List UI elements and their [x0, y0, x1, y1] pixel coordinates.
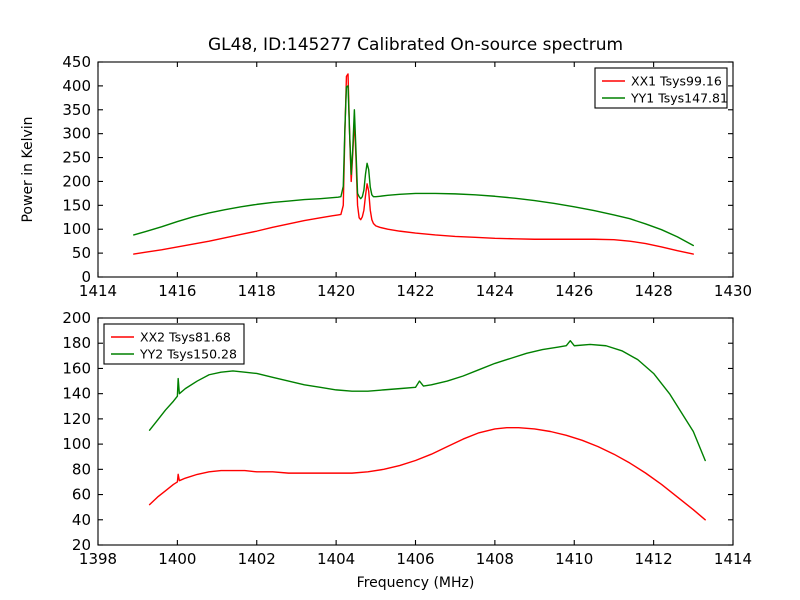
xtick-label-bottom: 1402 [238, 550, 276, 568]
legend-top: XX1 Tsys99.16YY1 Tsys147.81 [595, 68, 728, 108]
x-axis-label-bottom: Frequency (MHz) [357, 575, 475, 591]
legend-label-yy2: YY2 Tsys150.28 [139, 347, 237, 362]
xtick-label-bottom: 1404 [317, 550, 355, 568]
ytick-label-top: 200 [62, 172, 91, 190]
xtick-label-bottom: 1410 [555, 550, 593, 568]
legend-bottom: XX2 Tsys81.68YY2 Tsys150.28 [104, 324, 244, 364]
xtick-label-bottom: 1414 [714, 550, 752, 568]
panel-top: 1414141614181420142214241426142814300501… [20, 35, 752, 300]
ytick-label-bottom: 40 [72, 511, 91, 529]
ytick-label-top: 450 [62, 53, 91, 71]
ytick-label-bottom: 120 [62, 410, 91, 428]
plot-canvas: 1414141614181420142214241426142814300501… [0, 0, 800, 600]
ytick-label-bottom: 140 [62, 385, 91, 403]
xtick-label-top: 1430 [714, 282, 752, 300]
panel-bottom: 1398140014021404140614081410141214142040… [62, 309, 752, 591]
ytick-label-bottom: 200 [62, 309, 91, 327]
xtick-label-bottom: 1400 [158, 550, 196, 568]
ytick-label-top: 50 [72, 244, 91, 262]
plot-title: GL48, ID:145277 Calibrated On-source spe… [208, 35, 623, 55]
ytick-label-top: 300 [62, 125, 91, 143]
ytick-label-top: 100 [62, 220, 91, 238]
spectrum-figure: 1414141614181420142214241426142814300501… [0, 0, 800, 600]
xtick-label-top: 1422 [396, 282, 434, 300]
y-axis-label-top: Power in Kelvin [20, 116, 36, 222]
ytick-label-top: 150 [62, 196, 91, 214]
xtick-label-top: 1418 [238, 282, 276, 300]
legend-label-xx2: XX2 Tsys81.68 [140, 330, 231, 345]
xtick-label-bottom: 1408 [476, 550, 514, 568]
legend-label-xx1: XX1 Tsys99.16 [631, 74, 722, 89]
xtick-label-top: 1424 [476, 282, 514, 300]
xtick-label-top: 1416 [158, 282, 196, 300]
legend-label-yy1: YY1 Tsys147.81 [630, 91, 728, 106]
ytick-label-top: 0 [81, 268, 91, 286]
xtick-label-bottom: 1412 [635, 550, 673, 568]
ytick-label-bottom: 60 [72, 486, 91, 504]
xtick-label-top: 1426 [555, 282, 593, 300]
ytick-label-top: 250 [62, 149, 91, 167]
ytick-label-bottom: 180 [62, 334, 91, 352]
xtick-label-top: 1420 [317, 282, 355, 300]
ytick-label-top: 350 [62, 101, 91, 119]
ytick-label-bottom: 20 [72, 536, 91, 554]
ytick-label-top: 400 [62, 77, 91, 95]
ytick-label-bottom: 80 [72, 460, 91, 478]
xtick-label-top: 1428 [635, 282, 673, 300]
xtick-label-bottom: 1406 [396, 550, 434, 568]
ytick-label-bottom: 100 [62, 435, 91, 453]
ytick-label-bottom: 160 [62, 359, 91, 377]
